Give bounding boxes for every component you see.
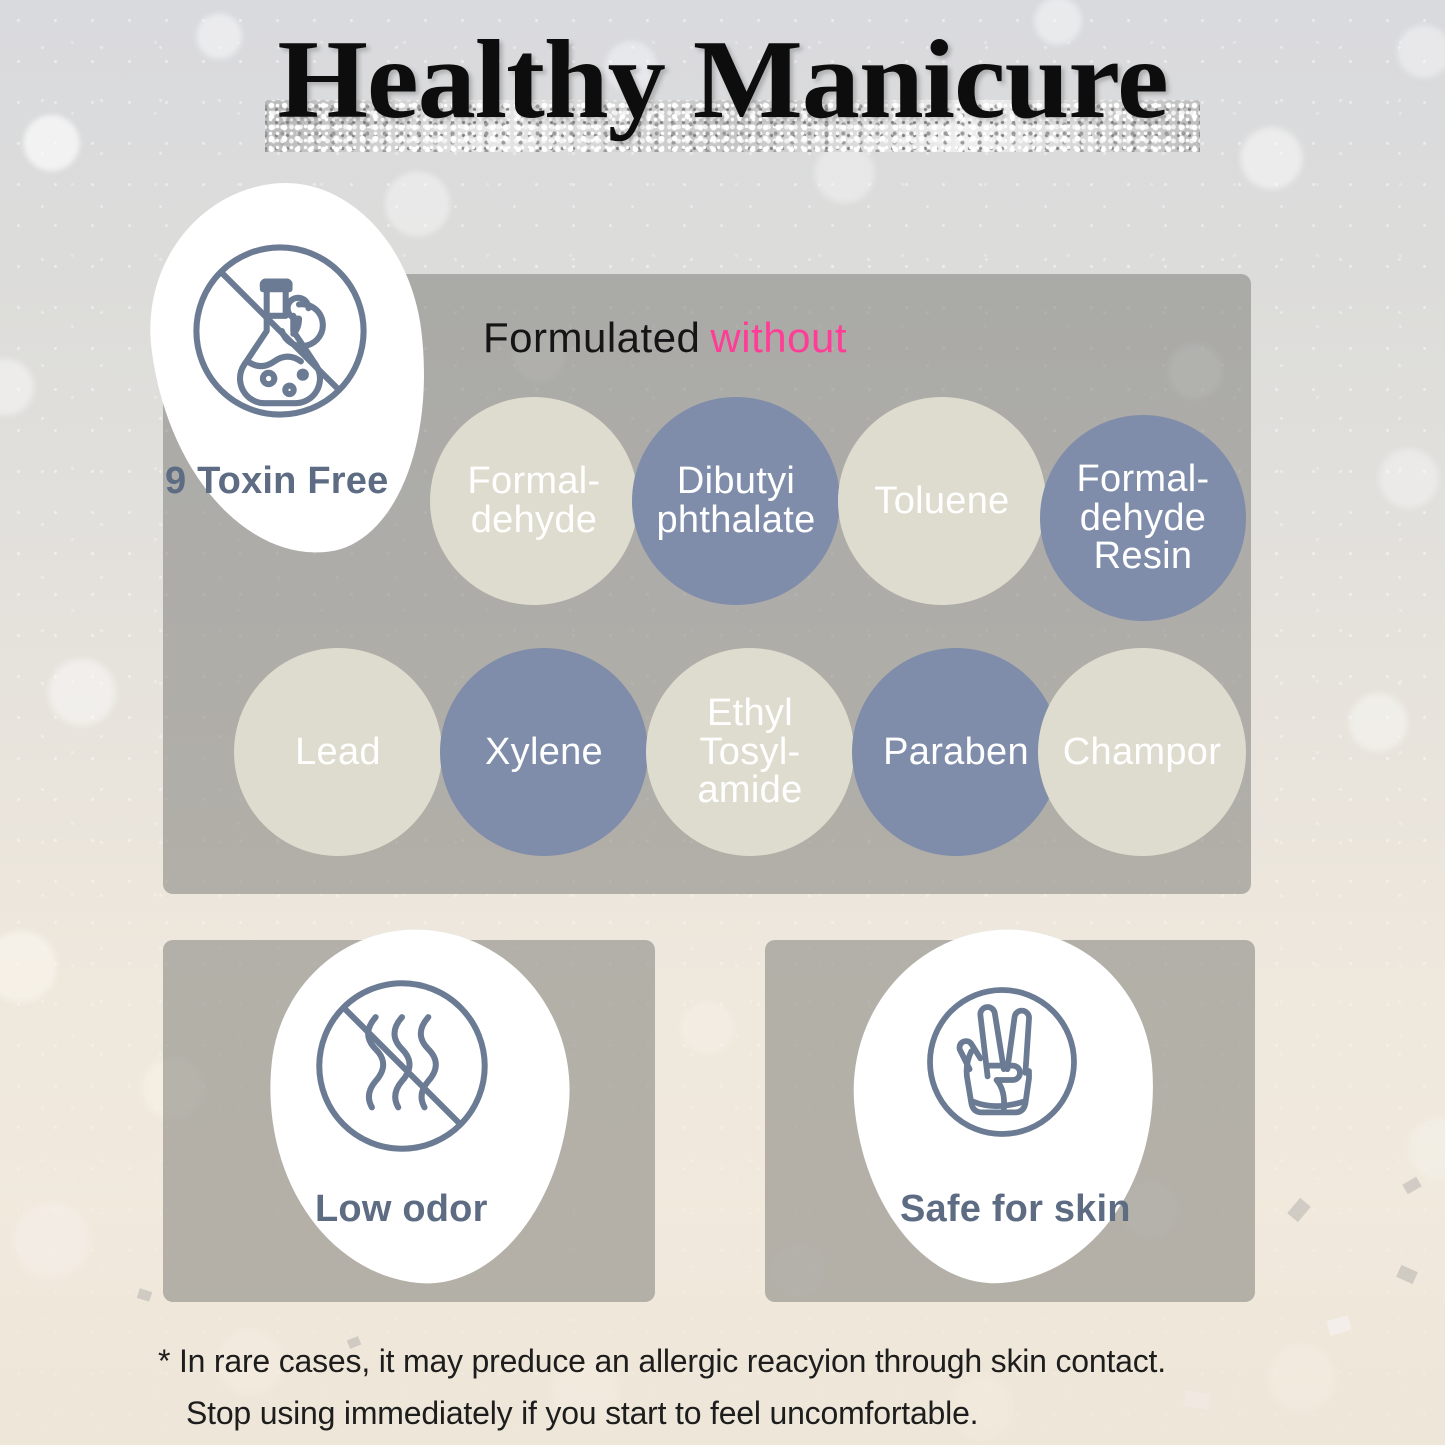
footnote-line-2: Stop using immediately if you start to f… [158,1388,1308,1440]
footnote-line-1: * In rare cases, it may preduce an aller… [158,1336,1308,1388]
formulated-prefix: Formulated [483,314,700,361]
formulated-highlight: without [710,314,847,361]
no-odor-waves-icon [308,972,496,1160]
toxin-free-label: 9 Toxin Free [165,460,388,503]
toxin-bubble: Champor [1038,648,1246,856]
toxin-bubble: Ethyl Tosyl- amide [646,648,854,856]
low-odor-label: Low odor [315,1188,488,1231]
infographic-page: Healthy Manicure Formulatedwithout Forma… [0,0,1445,1445]
footnote: * In rare cases, it may preduce an aller… [158,1336,1308,1440]
formulated-heading: Formulatedwithout [483,314,847,362]
safe-for-skin-label: Safe for skin [900,1188,1131,1231]
peace-hand-icon [912,972,1092,1152]
no-chemicals-flask-icon [185,236,375,426]
toxin-bubble: Toluene [838,397,1046,605]
toxin-bubble: Xylene [440,648,648,856]
toxin-bubble: Paraben [852,648,1060,856]
page-title: Healthy Manicure [0,22,1445,140]
toxin-bubble: Dibutyi phthalate [632,397,840,605]
toxin-bubble: Formal- dehyde Resin [1040,415,1246,621]
title-block: Healthy Manicure [0,22,1445,140]
toxin-bubble: Lead [234,648,442,856]
toxin-bubble: Formal- dehyde [430,397,638,605]
